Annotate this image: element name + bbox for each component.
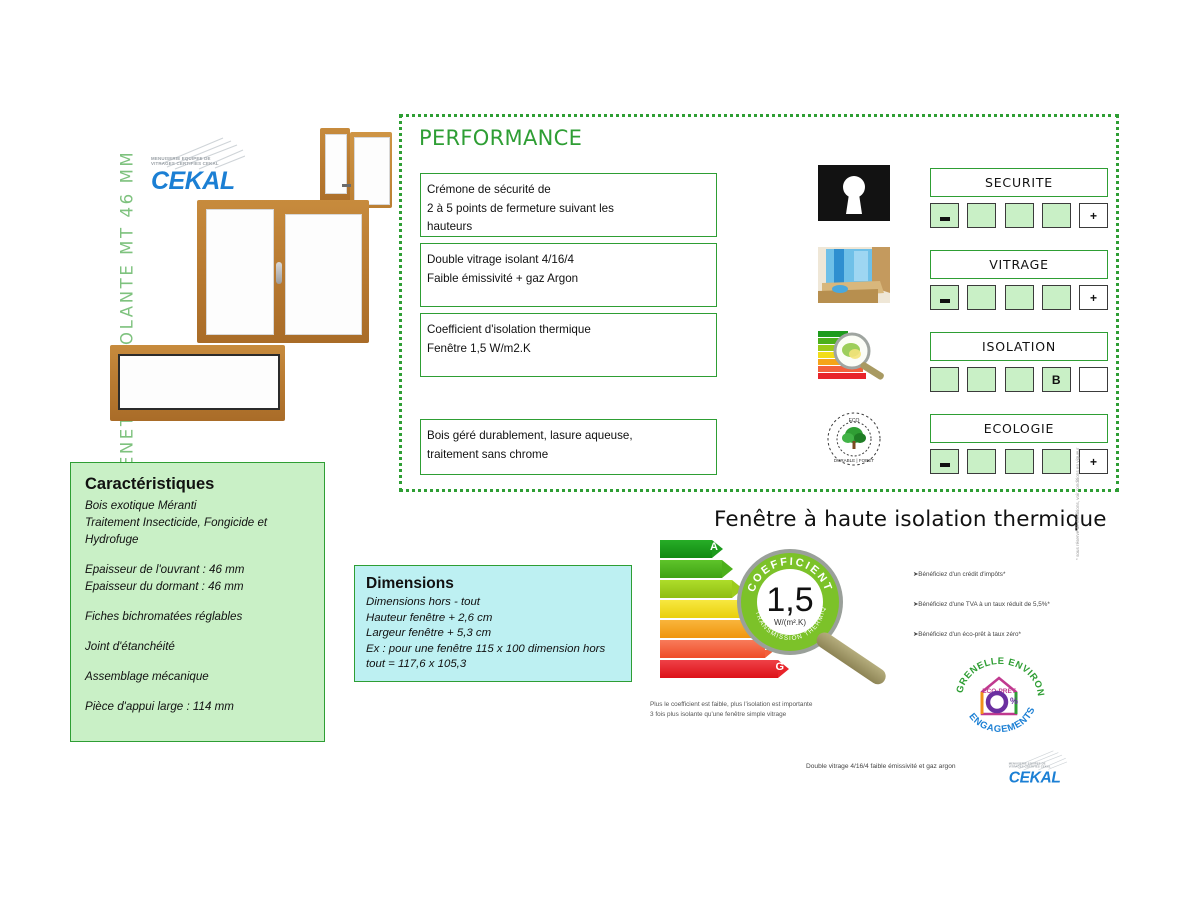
cekal-wordmark: CEKAL — [1009, 769, 1061, 787]
rating-label: ECOLOGIE — [930, 414, 1108, 443]
rating-scale[interactable]: + — [930, 285, 1108, 310]
energy-bar-g: G — [660, 660, 778, 678]
coefficient-value: 1,5 — [766, 581, 813, 619]
performance-box: Coefficient d'isolation thermique Fenêtr… — [420, 313, 717, 377]
list-item: Bois exotique Méranti — [85, 497, 324, 514]
energy-label-magnifier-icon — [818, 329, 890, 385]
energy-bar-d — [660, 600, 742, 618]
chart-note: Plus le coefficient est faible, plus l'i… — [650, 700, 812, 719]
benefit-item: ➤Bénéficiez d'un éco-prêt à taux zéro* — [913, 630, 1093, 639]
scale-cell-minus[interactable] — [930, 285, 959, 310]
rating-label: SECURITE — [930, 168, 1108, 197]
energy-magnifier-icon — [818, 329, 890, 385]
keyhole-shape-icon — [837, 174, 871, 216]
glazing-icon — [818, 247, 890, 303]
scale-cell[interactable] — [967, 449, 996, 474]
performance-text: traitement sans chrome — [427, 446, 716, 465]
scale-cell[interactable] — [1005, 285, 1034, 310]
performance-text: Double vitrage isolant 4/16/4 — [427, 251, 716, 270]
datasheet-page: FENETRES ISOLANTE MT 46 MM MENUISERIE EQ… — [0, 0, 1202, 901]
dimensions-line: Ex : pour une fenêtre 115 x 100 dimensio… — [366, 642, 631, 658]
scale-cell-minus[interactable] — [930, 449, 959, 474]
svg-text:DURABLE | FORET: DURABLE | FORET — [834, 458, 874, 463]
scale-cell-plus[interactable]: + — [1079, 449, 1108, 474]
window-photo-transom — [110, 345, 285, 421]
list-item: Epaisseur de l'ouvrant : 46 mm — [85, 561, 324, 578]
list-item: Pièce d'appui large : 114 mm — [85, 698, 324, 715]
scale-cell[interactable] — [967, 367, 996, 392]
eco-stamp-icon: ECO DURABLE | FORET — [818, 411, 890, 467]
performance-text: hauteurs — [427, 218, 716, 237]
dimensions-line: Hauteur fenêtre + 2,6 cm — [366, 611, 631, 627]
energy-bar-b — [660, 560, 722, 578]
scale-cell-grade[interactable]: B — [1042, 367, 1071, 392]
performance-text: Faible émissivité + gaz Argon — [427, 270, 716, 289]
dimensions-line: Largeur fenêtre + 5,3 cm — [366, 626, 631, 642]
coefficient-unit: W/(m².K) — [774, 618, 806, 627]
window-photo-double-casement — [197, 200, 369, 343]
rating-label: VITRAGE — [930, 250, 1108, 279]
list-item: Traitement Insecticide, Fongicide et — [85, 514, 324, 531]
svg-text:ECO: ECO — [849, 418, 860, 424]
performance-text: Bois géré durablement, lasure aqueuse, — [427, 427, 716, 446]
chart-note-line1: Plus le coefficient est faible, plus l'i… — [650, 700, 812, 710]
list-item: Hydrofuge — [85, 531, 324, 548]
performance-box: Double vitrage isolant 4/16/4 Faible émi… — [420, 243, 717, 307]
dimensions-title: Dimensions — [366, 575, 631, 593]
page-title-vertical: FENETRES ISOLANTE MT 46 MM — [118, 150, 137, 480]
promo-title: Fenêtre à haute isolation thermique — [714, 507, 1107, 532]
rating-row-vitrage: VITRAGE + — [818, 247, 1108, 327]
performance-text: Coefficient d'isolation thermique — [427, 321, 716, 340]
grenelle-logo-icon: GRENELLE ENVIRONNEMENT ENGAGEMENTS ECO-P… — [952, 652, 1047, 734]
list-item: Assemblage mécanique — [85, 668, 324, 685]
performance-title: PERFORMANCE — [419, 126, 582, 150]
benefit-item: ➤Bénéficiez d'une TVA à un taux réduit d… — [913, 600, 1093, 609]
rating-row-isolation: ISOLATION B — [818, 329, 1108, 409]
bottom-caption: Double vitrage 4/16/4 faible émissivité … — [806, 763, 956, 770]
legal-note: * sous réserve de conditions, voir condi… — [1075, 440, 1080, 560]
scale-cell[interactable] — [967, 285, 996, 310]
eco-tree-stamp-icon: ECO DURABLE | FORET — [818, 411, 890, 467]
rating-scale[interactable]: + — [930, 449, 1108, 474]
scale-cell[interactable] — [1042, 449, 1071, 474]
rating-scale[interactable]: B — [930, 367, 1108, 392]
characteristics-panel: Caractéristiques Bois exotique Méranti T… — [70, 462, 325, 742]
list-item: Epaisseur du dormant : 46 mm — [85, 578, 324, 595]
scale-cell[interactable] — [930, 367, 959, 392]
rating-scale[interactable]: + — [930, 203, 1108, 228]
scale-cell[interactable] — [967, 203, 996, 228]
benefits-list: ➤Bénéficiez d'un crédit d'impôts* ➤Bénéf… — [913, 570, 1093, 660]
list-item: Fiches bichromatées réglables — [85, 608, 324, 625]
benefit-item: ➤Bénéficiez d'un crédit d'impôts* — [913, 570, 1093, 579]
dimensions-line: tout = 117,6 x 105,3 — [366, 657, 631, 673]
cekal-logo-footer: MENUISERIE EQUIPEE DE VITRAGES CERTIFIES… — [1005, 752, 1062, 778]
magnifier-handle-icon — [814, 629, 889, 687]
scale-cell-plus[interactable]: + — [1079, 285, 1108, 310]
scale-cell-plus[interactable]: + — [1079, 203, 1108, 228]
svg-text:%: % — [1010, 696, 1018, 706]
performance-text: Crémone de sécurité de — [427, 181, 716, 200]
scale-cell[interactable] — [1005, 449, 1034, 474]
performance-box: Bois géré durablement, lasure aqueuse, t… — [420, 419, 717, 475]
rating-row-securite: SECURITE + — [818, 165, 1108, 245]
chart-note-line2: 3 fois plus isolante qu'une fenêtre simp… — [650, 710, 812, 720]
grenelle-environnement-logo: GRENELLE ENVIRONNEMENT ENGAGEMENTS ECO-P… — [952, 652, 1047, 734]
dimensions-panel: Dimensions Dimensions hors - tout Hauteu… — [354, 565, 632, 682]
cekal-tagline-line2: VITRAGES CERTIFIES CEKAL — [151, 161, 219, 166]
performance-text: Fenêtre 1,5 W/m2.K — [427, 340, 716, 359]
performance-box: Crémone de sécurité de 2 à 5 points de f… — [420, 173, 717, 237]
scale-cell[interactable] — [1042, 203, 1071, 228]
cekal-wordmark: CEKAL — [151, 167, 235, 196]
scale-cell[interactable] — [1042, 285, 1071, 310]
performance-text: 2 à 5 points de fermeture suivant les — [427, 200, 716, 219]
scale-cell[interactable] — [1079, 367, 1108, 392]
energy-bar-c — [660, 580, 732, 598]
dimensions-line: Dimensions hors - tout — [366, 595, 631, 611]
performance-section: PERFORMANCE Crémone de sécurité de 2 à 5… — [399, 114, 1119, 492]
glazing-photo-icon — [818, 247, 890, 303]
cekal-logo: MENUISERIE EQUIPEE DE VITRAGES CERTIFIES… — [145, 140, 265, 200]
characteristics-list: Bois exotique Méranti Traitement Insecti… — [85, 497, 324, 715]
scale-cell-minus[interactable] — [930, 203, 959, 228]
energy-bar-a: A — [660, 540, 712, 558]
rating-label: ISOLATION — [930, 332, 1108, 361]
characteristics-title: Caractéristiques — [85, 475, 324, 494]
keyhole-icon — [818, 165, 890, 221]
list-item: Joint d'étanchéité — [85, 638, 324, 655]
scale-cell[interactable] — [1005, 367, 1034, 392]
scale-cell[interactable] — [1005, 203, 1034, 228]
rating-row-ecologie: ECO DURABLE | FORET ECOLOGIE + — [818, 411, 1108, 491]
